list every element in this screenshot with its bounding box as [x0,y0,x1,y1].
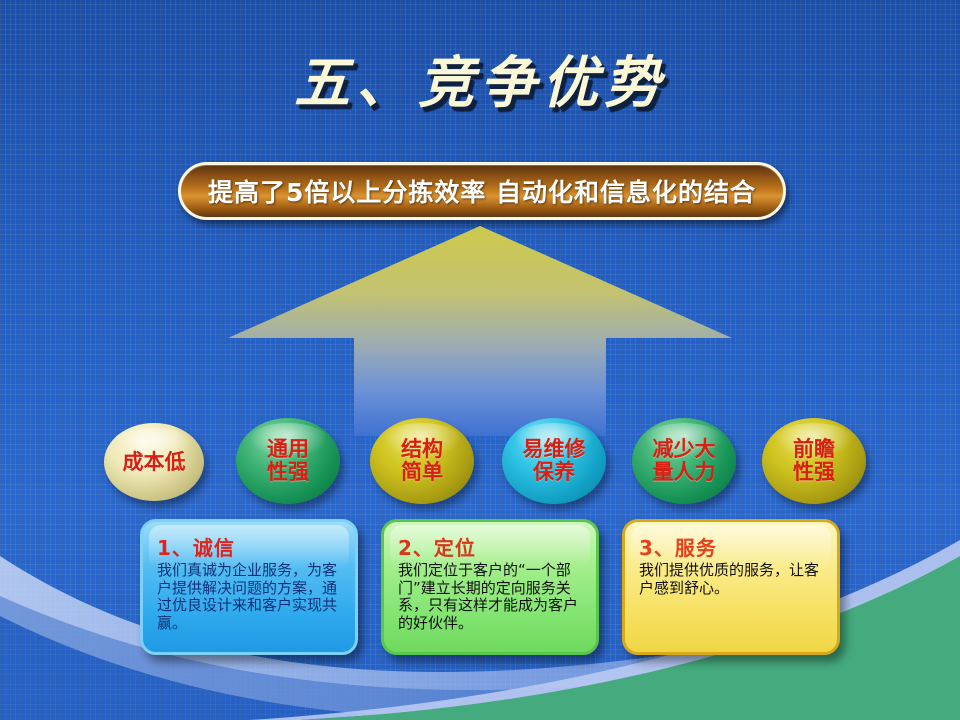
advantage-oval-simple-structure[interactable]: 结构 简单 [370,418,474,504]
headline-banner: 提高了5倍以上分拣效率 自动化和信息化的结合 [178,162,786,220]
advantage-oval-label: 成本低 [123,451,186,474]
advantage-oval-cost-low[interactable]: 成本低 [104,423,204,501]
advantage-oval-label: 易维修 保养 [523,438,586,483]
advantage-oval-forward-looking[interactable]: 前瞻 性强 [762,418,866,504]
advantage-oval-label: 减少大 量人力 [653,438,716,483]
advantage-oval-label: 通用 性强 [267,438,309,483]
upward-arrow-icon [228,226,732,436]
advantage-oval-label: 结构 简单 [401,438,443,483]
advantage-oval-easy-maintain[interactable]: 易维修 保养 [502,418,606,504]
principle-card-title: 3、服务 [639,532,825,561]
advantage-oval-less-labor[interactable]: 减少大 量人力 [632,418,736,504]
principle-card-title: 2、定位 [398,532,584,561]
advantage-oval-label: 前瞻 性强 [793,438,835,483]
presentation-slide: 五、竞争优势 提高了5倍以上分拣效率 自动化和信息化的结合 成本低 通用 性强 … [0,0,960,720]
principle-card-body: 我们提供优质的服务，让客户感到舒心。 [639,562,825,597]
advantage-oval-universal[interactable]: 通用 性强 [236,418,340,504]
principle-card-service[interactable]: 3、服务 我们提供优质的服务，让客户感到舒心。 [622,519,840,655]
principle-card-integrity[interactable]: 1、诚信 我们真诚为企业服务，为客户提供解决问题的方案，通过优良设计来和客户实现… [140,519,358,655]
principle-card-positioning[interactable]: 2、定位 我们定位于客户的“一个部门”建立长期的定向服务关系，只有这样才能成为客… [381,519,599,655]
slide-title: 五、竞争优势 [0,38,960,119]
principle-card-body: 我们定位于客户的“一个部门”建立长期的定向服务关系，只有这样才能成为客户的好伙伴… [398,562,584,633]
principle-card-title: 1、诚信 [157,532,343,561]
principle-card-body: 我们真诚为企业服务，为客户提供解决问题的方案，通过优良设计来和客户实现共赢。 [157,562,343,633]
headline-banner-text: 提高了5倍以上分拣效率 自动化和信息化的结合 [208,173,756,209]
